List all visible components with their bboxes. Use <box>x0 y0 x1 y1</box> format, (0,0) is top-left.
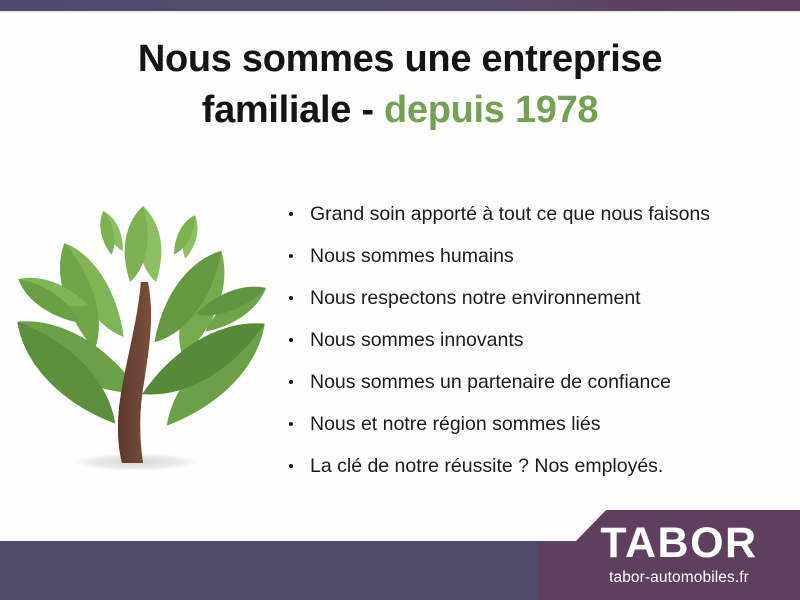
tree-illustration <box>12 186 270 491</box>
brand-logo-block: TABOR tabor-automobiles.fr <box>538 510 800 600</box>
list-item-label: Nous et notre région sommes liés <box>310 413 600 435</box>
slide-canvas: Nous sommes une entreprise familiale - d… <box>0 0 800 600</box>
headline-line-2-plain: familiale - <box>202 89 384 131</box>
list-item-label: La clé de notre réussite ? Nos employés. <box>310 455 663 477</box>
headline-line-2-accent: depuis 1978 <box>384 89 598 131</box>
bullet-icon <box>289 296 293 300</box>
list-item: Nous sommes humains <box>286 235 756 277</box>
top-accent-hairline <box>0 11 800 13</box>
value-list: Grand soin apporté à tout ce que nous fa… <box>286 193 756 487</box>
list-item-label: Nous sommes humains <box>310 245 514 267</box>
headline-line-1: Nous sommes une entreprise <box>138 38 662 80</box>
list-item: Nous sommes un partenaire de confiance <box>286 361 756 403</box>
bullet-icon <box>289 212 293 216</box>
list-item-label: Grand soin apporté à tout ce que nous fa… <box>310 203 710 225</box>
brand-logo-inner: TABOR tabor-automobiles.fr <box>574 522 784 586</box>
list-item-label: Nous respectons notre environnement <box>310 287 641 309</box>
list-item: Grand soin apporté à tout ce que nous fa… <box>286 193 756 235</box>
list-item: Nous sommes innovants <box>286 319 756 361</box>
tree-leaf <box>125 206 162 282</box>
brand-domain: tabor-automobiles.fr <box>574 570 784 586</box>
list-item-label: Nous sommes un partenaire de confiance <box>310 371 671 393</box>
page-title: Nous sommes une entreprise familiale - d… <box>70 34 730 135</box>
list-item: Nous respectons notre environnement <box>286 277 756 319</box>
tree-illustration-svg <box>12 186 270 491</box>
bullet-icon <box>289 464 293 468</box>
list-item: Nous et notre région sommes liés <box>286 403 756 445</box>
bullet-icon <box>289 422 293 426</box>
tree-leaf <box>95 208 126 256</box>
bullet-icon <box>289 254 293 258</box>
list-item: La clé de notre réussite ? Nos employés. <box>286 445 756 487</box>
top-accent-bar <box>0 0 800 11</box>
brand-wordmark: TABOR <box>574 522 784 565</box>
bullet-icon <box>289 338 293 342</box>
tree-leaf <box>171 212 204 260</box>
bullet-icon <box>289 380 293 384</box>
list-item-label: Nous sommes innovants <box>310 329 524 351</box>
